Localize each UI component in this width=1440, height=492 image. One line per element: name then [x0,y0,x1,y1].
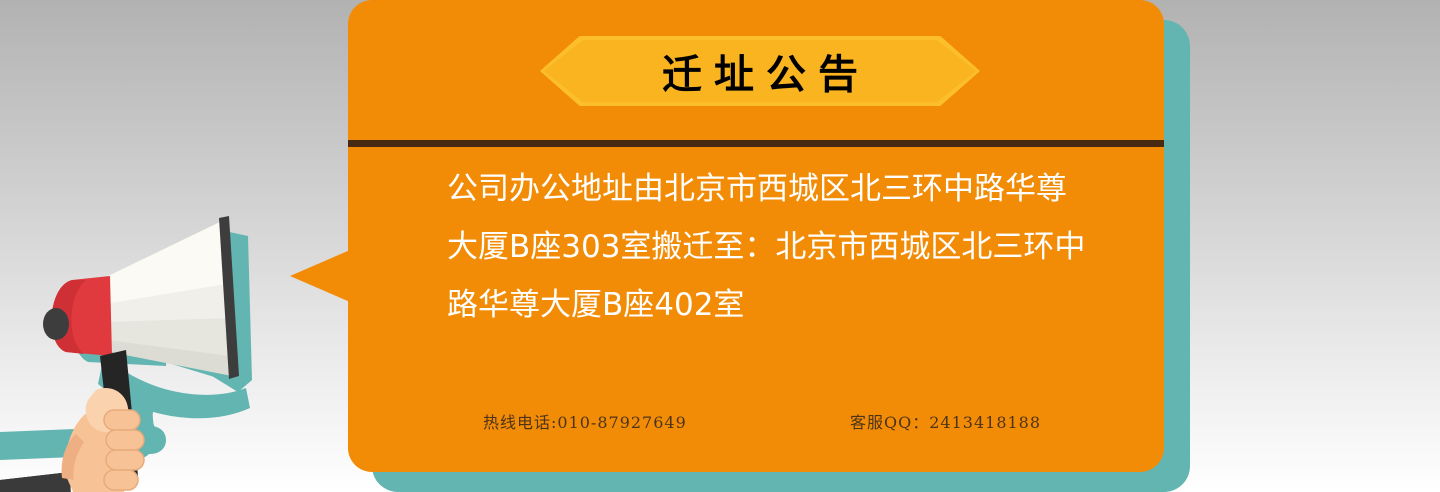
title-ribbon: 迁址公告 [540,36,980,106]
announcement-body: 公司办公地址由北京市西城区北三环中路华尊大厦B座303室搬迁至：北京市西城区北三… [447,160,1097,334]
hotline-phone: 热线电话:010-87927649 [483,409,687,433]
speech-bubble-tail [290,250,350,302]
megaphone-back-cap [43,276,112,356]
announcement-banner: 迁址公告 公司办公地址由北京市西城区北三环中路华尊大厦B座303室搬迁至：北京市… [0,0,1440,492]
announcement-card: 迁址公告 公司办公地址由北京市西城区北三环中路华尊大厦B座303室搬迁至：北京市… [348,0,1164,472]
sleeve [0,472,72,492]
contact-footer: 热线电话:010-87927649 客服QQ：2413418188 [348,404,1164,438]
page-title: 迁址公告 [540,36,980,106]
megaphone-hand-icon [0,180,330,492]
title-divider [348,140,1164,147]
customer-service-qq: 客服QQ：2413418188 [850,409,1041,433]
